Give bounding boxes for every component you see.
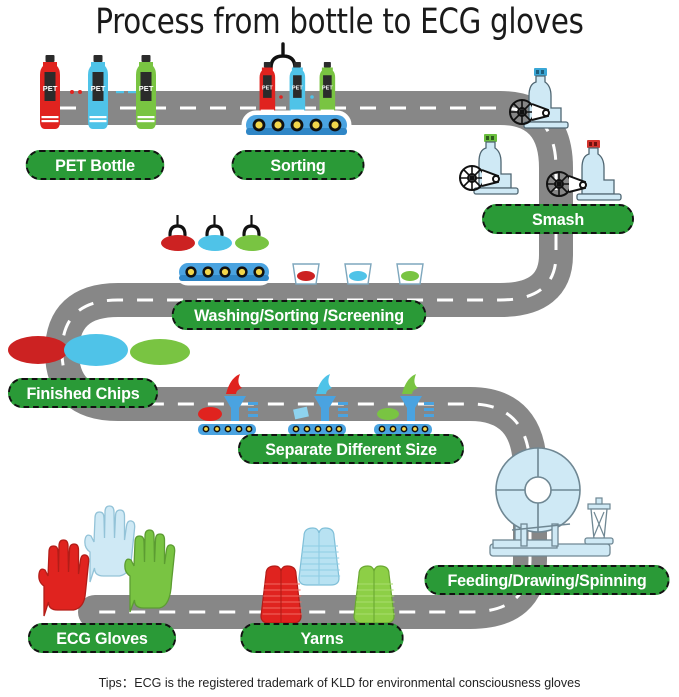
svg-text:PET: PET [43,84,58,93]
svg-text:PET: PET [262,85,273,91]
step-pill-feeding-drawing-spinning[interactable]: Feeding/Drawing/Spinning [424,565,669,595]
finished-chips-red [8,336,68,364]
bottle-red: PET [40,55,60,129]
svg-text:PET: PET [292,85,303,91]
wash-basket-blue [345,255,371,284]
hook-green [244,215,259,235]
step-pill-yarns[interactable]: Yarns [240,623,403,653]
chip-pile-green [235,235,269,251]
yarn-cone-blue [299,528,340,585]
finished-chips-green [130,339,190,365]
svg-text:PET: PET [91,84,106,93]
step-pill-washing-sorting-screening[interactable]: Washing/Sorting /Screening [172,300,427,330]
spinning-machine-group [490,448,613,556]
wash-basket-green [397,255,423,284]
hook-blue [207,215,222,235]
footer-note: Tips：ECG is the registered trademark of … [0,672,679,691]
step-pill-finished-chips[interactable]: Finished Chips [8,378,158,408]
smash-unit-green [460,134,518,194]
bottle-green: PET [136,55,156,129]
spindle-tower [585,498,613,544]
step-pill-separate-different-size[interactable]: Separate Different Size [238,434,464,464]
chip-pile-red [161,235,195,251]
sorting-conveyor [243,112,350,138]
step-pill-smash[interactable]: Smash [482,204,634,234]
step-pill-pet-bottle[interactable]: PET Bottle [26,150,165,180]
finished-chips-blue [64,334,128,366]
infographic-canvas: Process from bottle to ECG gloves [0,0,679,697]
wash-basket-red [293,255,319,284]
bottle-blue: PET [88,55,108,129]
finished-chips-group [8,334,190,366]
step-pill-ecg-gloves[interactable]: ECG Gloves [28,623,176,653]
hook-red [170,215,185,235]
glove-red [39,540,89,616]
chip-pile-blue [198,235,232,251]
washing-conveyor [176,260,272,284]
svg-text:PET: PET [139,84,154,93]
svg-text:PET: PET [322,85,333,91]
yarn-cone-red [261,566,302,623]
step-pill-sorting[interactable]: Sorting [232,150,365,180]
washing-group [161,215,423,284]
pet-bottle-group: PET PET [40,55,156,129]
yarn-cone-green [354,566,395,623]
